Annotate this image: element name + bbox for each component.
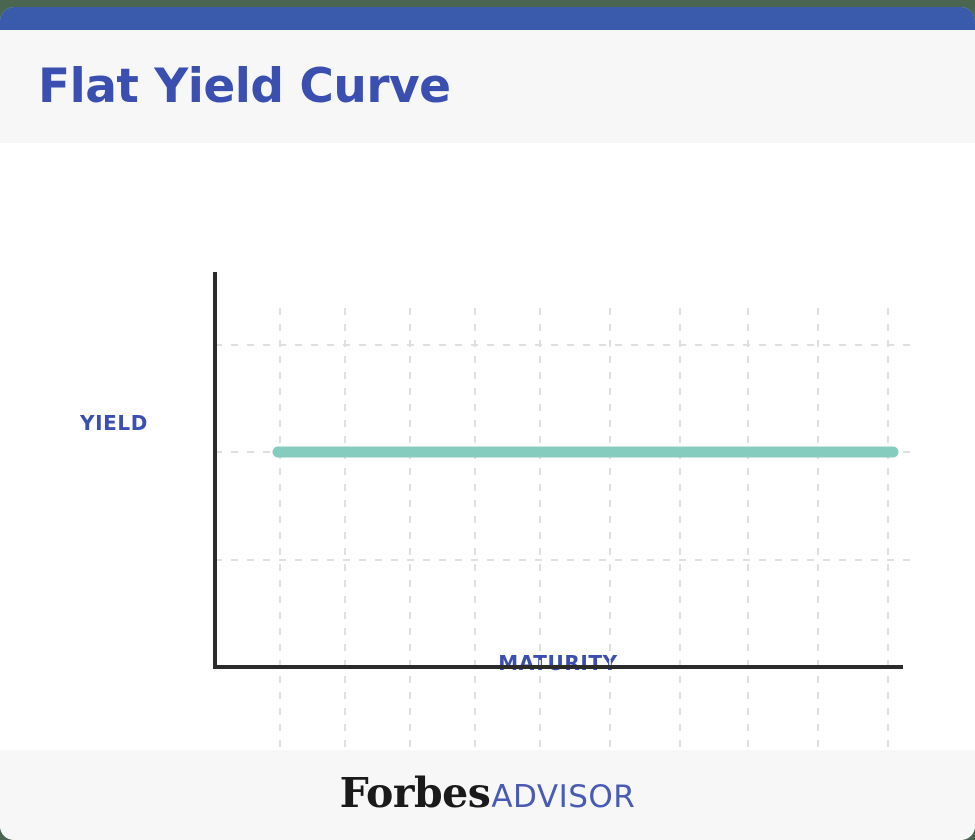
- infographic-root: Flat Yield Curve YIELD MATURITY: [0, 0, 975, 840]
- accent-bar: [0, 7, 975, 30]
- y-axis-label: YIELD: [40, 411, 188, 435]
- chart-figure: YIELD MATURITY: [0, 143, 975, 750]
- brand-advisor-wordmark: ADVISOR: [491, 779, 635, 815]
- grid-vertical: [280, 308, 888, 768]
- content-card: Flat Yield Curve YIELD MATURITY: [0, 7, 975, 840]
- page-title: Flat Yield Curve: [38, 63, 451, 110]
- header-panel: Flat Yield Curve: [0, 30, 975, 143]
- plot-area: [190, 203, 930, 793]
- brand-forbes-wordmark: Forbes: [340, 769, 491, 817]
- brand-logo: Forbes ADVISOR: [340, 769, 636, 817]
- footer-panel: Forbes ADVISOR: [0, 750, 975, 840]
- chart-body: YIELD MATURITY: [0, 143, 975, 750]
